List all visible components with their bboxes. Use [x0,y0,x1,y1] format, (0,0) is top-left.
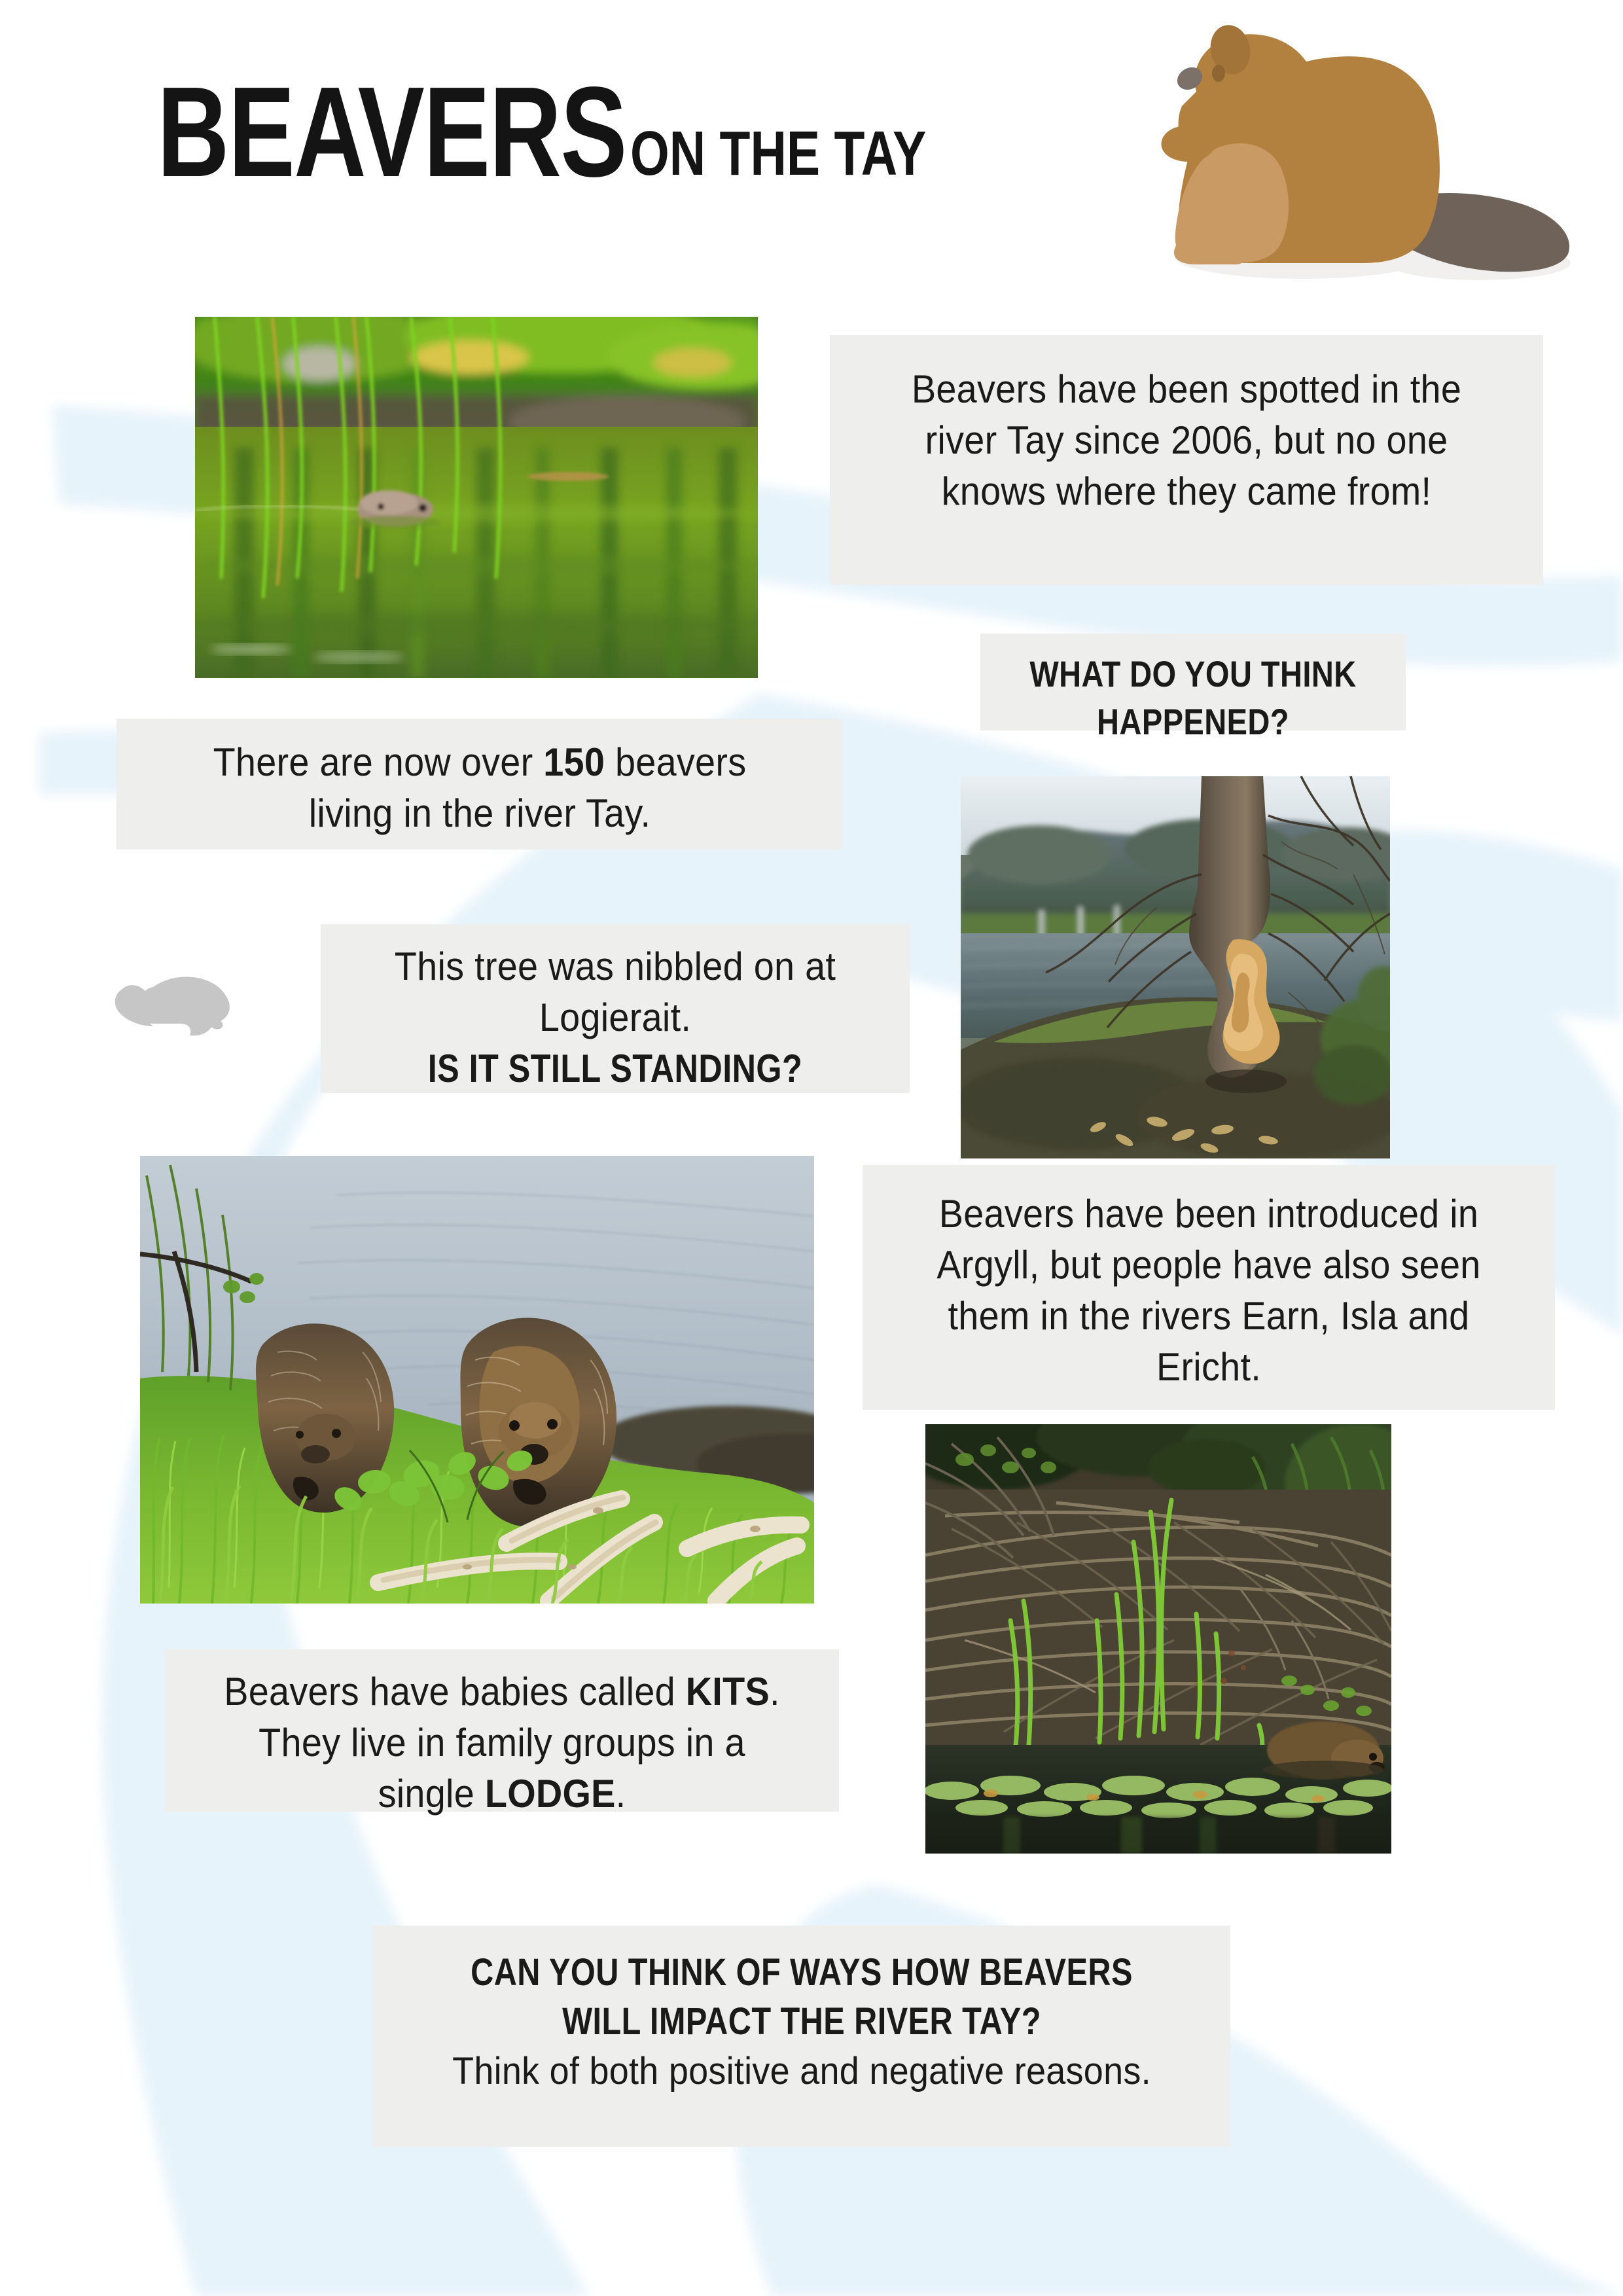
photo-beaver-swimming [195,317,758,678]
kits-term: KITS [686,1670,770,1713]
photo-two-beavers [140,1156,814,1604]
callout-what-do-you-think-text: WHAT DO YOU THINK HAPPENED? [1024,651,1362,746]
photo-beaver-lodge [925,1424,1391,1854]
population-pre: There are now over [213,740,544,784]
callout-nibbled-question: IS IT STILL STANDING? [390,1043,841,1094]
callout-argyll-text: Beavers have been introduced in Argyll, … [914,1189,1504,1393]
callout-argyll: Beavers have been introduced in Argyll, … [863,1165,1555,1410]
page-title-main: BEAVERS [157,79,626,187]
poster-page: BEAVERS ON THE TAY [0,0,1623,2296]
callout-spotted: Beavers have been spotted in the river T… [830,335,1543,585]
beaver-silhouette-icon [111,956,242,1047]
page-title: BEAVERS ON THE TAY [157,79,1000,187]
kits-part1: Beavers have babies called [224,1670,685,1713]
callout-nibbled-text: This tree was nibbled on at Logierait. [366,941,865,1043]
callout-population-text: There are now over 150 beavers living in… [175,737,785,839]
callout-spotted-text: Beavers have been spotted in the river T… [887,364,1487,517]
kits-part3: . [616,1772,626,1816]
population-count: 150 [543,740,605,784]
beaver-illustration [1021,7,1610,281]
callout-population: There are now over 150 beavers living in… [116,719,843,850]
callout-impact-question: CAN YOU THINK OF WAYS HOW BEAVERS WILL I… [373,1926,1230,2147]
lodge-term: LODGE [485,1772,616,1816]
callout-nibbled-tree: This tree was nibbled on at Logierait. I… [321,924,910,1093]
callout-impact-caps: CAN YOU THINK OF WAYS HOW BEAVERS WILL I… [470,1948,1133,2047]
callout-kits-text: Beavers have babies called KITS. They li… [211,1666,792,1820]
callout-what-do-you-think: WHAT DO YOU THINK HAPPENED? [980,634,1406,730]
page-title-sub: ON THE TAY [630,126,926,182]
photo-gnawed-tree [961,776,1390,1158]
callout-kits-lodge: Beavers have babies called KITS. They li… [165,1649,839,1812]
callout-impact-text: Think of both positive and negative reas… [435,2047,1169,2096]
